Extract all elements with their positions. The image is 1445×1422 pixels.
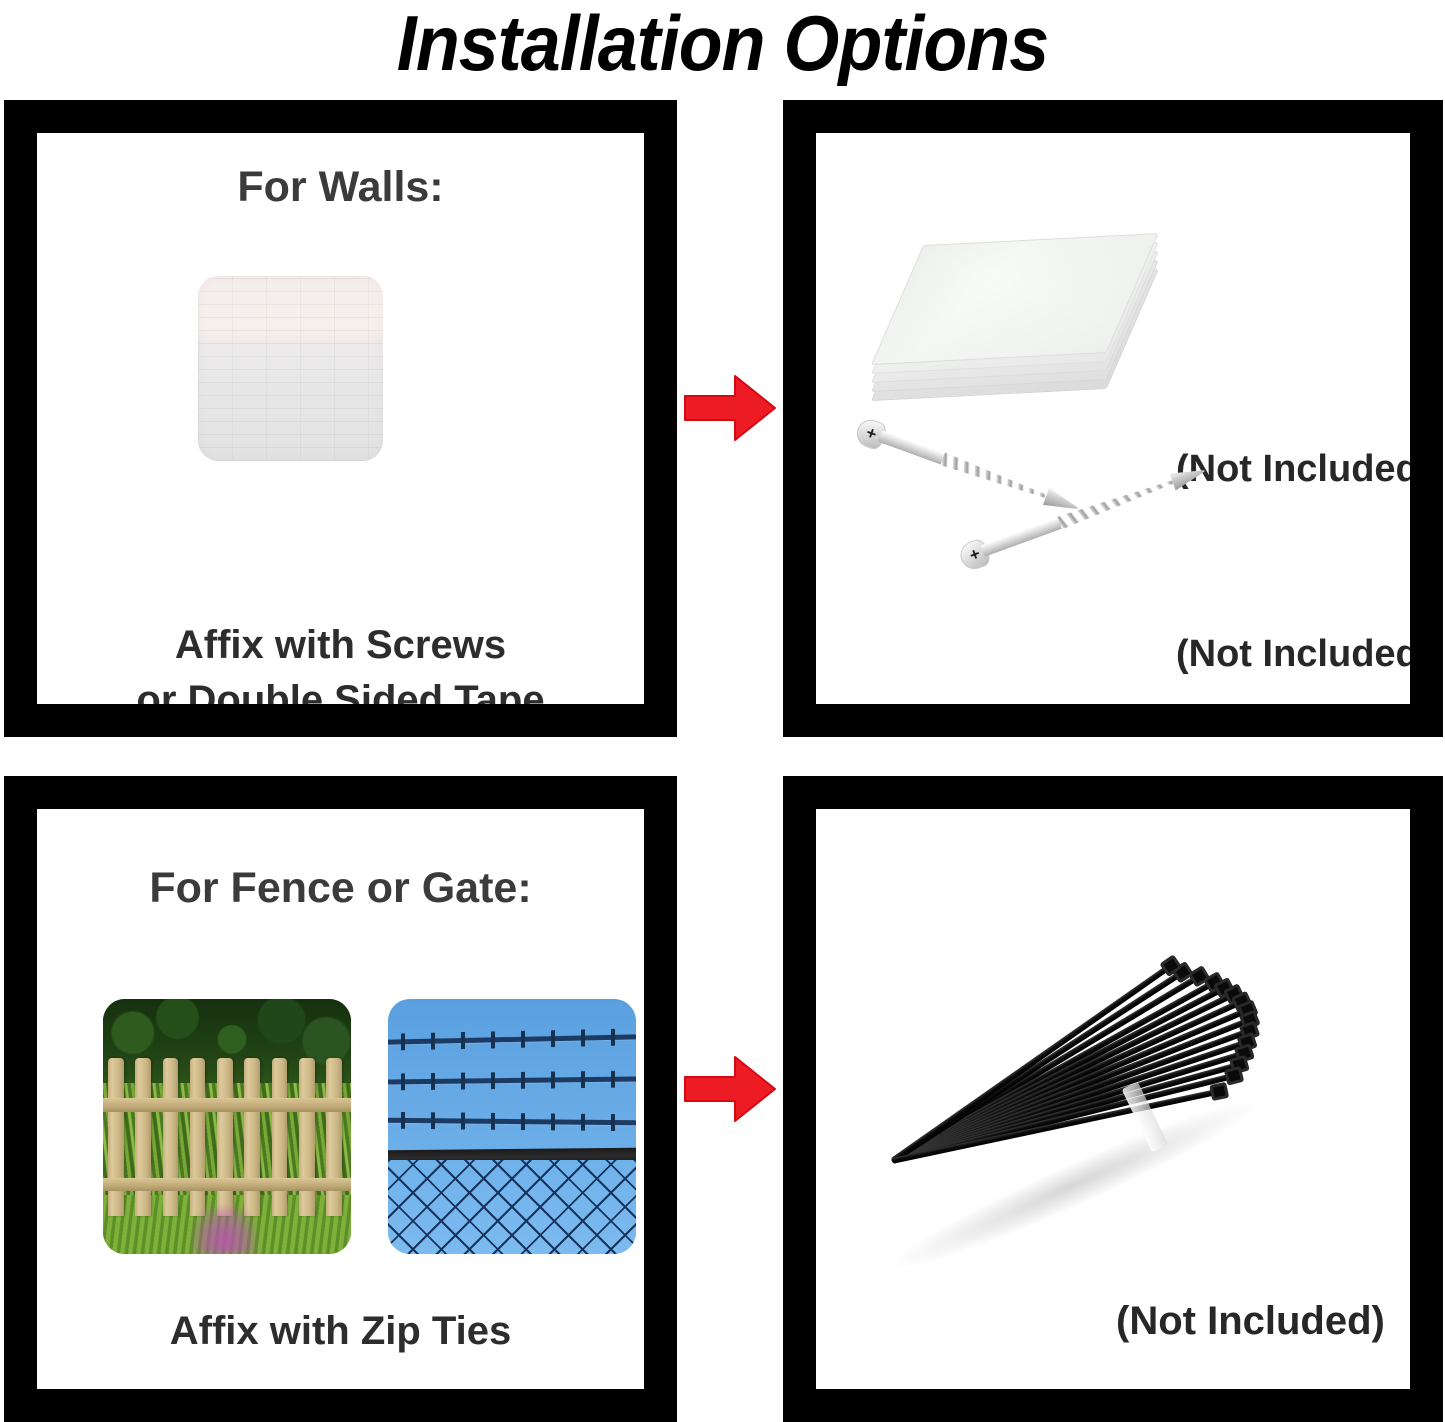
black-zip-ties-bundle [844,914,1314,1294]
for-fence-or-gate-heading: For Fence or Gate: [37,864,644,913]
affix-with-zip-ties-caption: Affix with Zip Ties [37,1309,644,1354]
barbed-wire-strand [388,1076,636,1084]
phillips-cross-icon: + [967,547,984,564]
panel-fence-hardware: (Not Included) [783,776,1443,1422]
fence-picket [244,1058,260,1216]
red-right-arrow-icon [683,372,777,449]
fence-picket [108,1058,124,1216]
purple-flower-patch [192,1206,256,1254]
fence-rail [103,1178,351,1191]
fence-picket [163,1058,179,1216]
zip-ties-not-included-label: (Not Included) [1116,1299,1385,1344]
screw-thread [938,448,1054,510]
fence-picket [272,1058,288,1216]
double-sided-tape-caption: or Double Sided Tape [37,678,644,704]
screws-not-included-label: (Not Included) [1176,633,1410,676]
fence-picket [299,1058,315,1216]
red-right-arrow-icon [683,1053,777,1130]
fence-picket [190,1058,206,1216]
chain-link-mesh [388,1160,636,1254]
double-sided-tape-stack [871,241,1136,406]
barbed-wire-strand [388,1035,636,1045]
for-walls-heading: For Walls: [37,163,644,212]
wooden-picket-fence-photo [103,999,351,1254]
fence-picket [217,1058,233,1216]
fence-picket [326,1058,342,1216]
white-brick-wall-swatch [198,276,383,461]
panel-for-fence-or-gate-content: For Fence or Gate: [37,809,644,1389]
screw-shank [878,430,950,466]
panel-wall-hardware-content: (Not Included) + + (Not Included) [816,133,1410,704]
panel-for-fence-or-gate: For Fence or Gate: [4,776,677,1422]
barbed-wire-strand [388,1117,636,1125]
screw-shank [981,515,1068,556]
panel-wall-hardware: (Not Included) + + (Not Included) [783,100,1443,737]
chain-link-barbed-wire-fence-photo [388,999,636,1254]
page-title: Installation Options [58,0,1387,88]
installation-options-infographic: Installation Options For Walls: Affix wi… [0,0,1445,1422]
fence-rail [103,1098,351,1111]
fence-picket [135,1058,151,1216]
panel-fence-hardware-content: (Not Included) [816,809,1410,1389]
zip-tie-head [1224,1066,1244,1086]
tape-not-included-label: (Not Included) [1176,448,1410,491]
wood-screw: + [854,416,1084,521]
affix-with-screws-caption: Affix with Screws [37,623,644,668]
panel-for-walls-content: For Walls: Affix with Screws or Double S… [37,133,644,704]
panel-for-walls: For Walls: Affix with Screws or Double S… [4,100,677,737]
